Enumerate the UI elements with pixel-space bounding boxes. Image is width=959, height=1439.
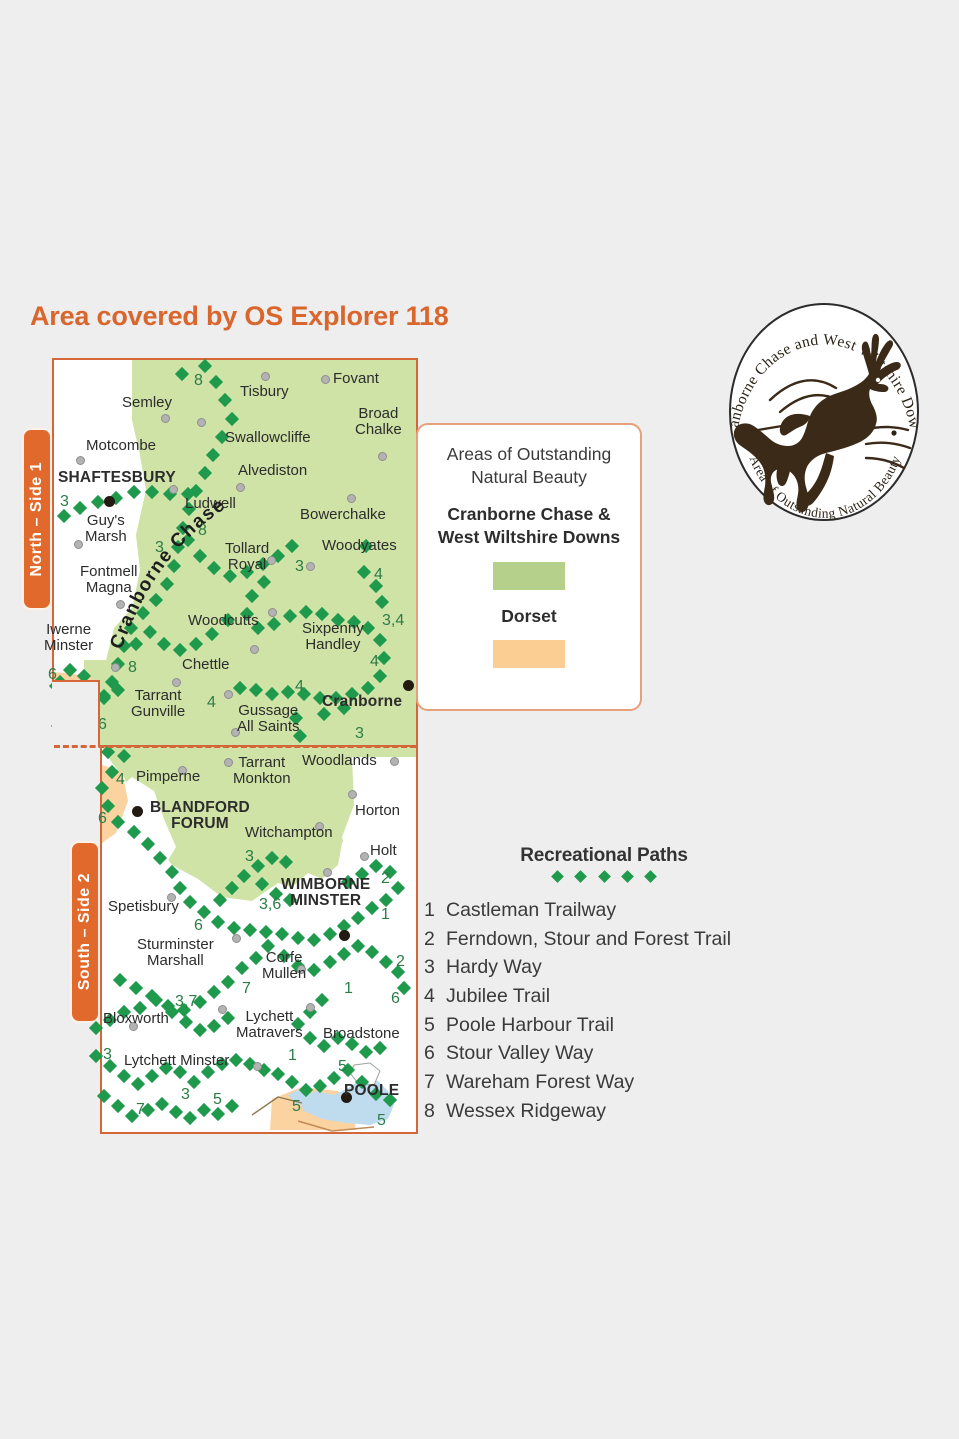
label-woodyates: Woodyates [322,538,397,554]
label-witchampton: Witchampton [245,825,333,841]
label-horton: Horton [355,803,400,819]
label-sturminster-marshall: SturminsterMarshall [137,937,214,969]
label-bowerchalke: Bowerchalke [300,507,386,523]
label-semley: Semley [122,395,172,411]
aonb-swatch-cranborne-chase [493,562,565,590]
label-guys-marsh: Guy'sMarsh [85,513,127,545]
label-fovant: Fovant [333,371,379,387]
path-num: 7 [242,980,251,998]
path-num: 6 [391,990,400,1008]
label-shaftesbury: SHAFTESBURY [58,470,176,486]
label-lytchett-minster: Lytchett Minster [124,1053,229,1069]
label-gussage-all-saints: GussageAll Saints [237,703,300,735]
path-num: 1 [344,980,353,998]
path-num: 8 [198,522,207,540]
label-tisbury: Tisbury [240,384,289,400]
label-blandford-forum: BLANDFORDFORUM [150,800,250,833]
label-lychett-matravers: LychettMatravers [236,1009,303,1041]
path-num: 3,6 [259,896,281,914]
map-notch [52,680,100,747]
path-num: 3,4 [382,612,404,630]
path-num: 1 [381,906,390,924]
label-tarrant-monkton: TarrantMonkton [233,755,291,787]
label-broadstone: Broadstone [323,1026,400,1042]
path-num: 6 [98,810,107,828]
label-sixpenny-handley: SixpennyHandley [302,621,364,653]
path-num: 5 [292,1098,301,1116]
path-num: 8 [128,659,137,677]
aonb-item1-line1: Cranborne Chase & [447,504,610,524]
path-num: 5 [338,1058,347,1076]
path-num: 3 [181,1086,190,1104]
label-poole: POOLE [344,1083,399,1099]
path-num: 4 [207,694,216,712]
path-num: 3 [355,725,364,743]
path-num: 4 [370,653,379,671]
label-holt: Holt [370,843,397,859]
path-num: 4 [374,566,383,584]
map-sheet-divider [54,745,416,748]
path-num: 2 [381,870,390,888]
path-num: 3,7 [175,993,197,1011]
label-woodcutts: Woodcutts [188,613,259,629]
label-bloxworth: Bloxworth [103,1011,169,1027]
label-pimperne: Pimperne [136,769,200,785]
aonb-item-dorset-label: Dorset [428,606,630,627]
path-num: 6 [194,917,203,935]
aonb-legend-box: Areas of Outstanding Natural Beauty Cran… [416,423,642,711]
label-fontmell-magna: FontmellMagna [80,564,138,596]
map-page: Area covered by OS Explorer 118 [0,0,959,1439]
label-spetisbury: Spetisbury [108,899,179,915]
path-num: 4 [116,771,125,789]
path-num: 5 [213,1091,222,1109]
path-num: 1 [288,1047,297,1065]
label-swallowcliffe: Swallowcliffe [225,430,311,446]
path-num: 7 [136,1101,145,1119]
path-num: 3 [60,493,69,511]
path-num: 3 [155,539,164,557]
path-num: 4 [295,678,304,696]
path-num: 3 [295,558,304,576]
label-wimborne-minster: WIMBORNEMINSTER [281,877,370,910]
aonb-heading-line2: Natural Beauty [471,467,587,487]
label-alvediston: Alvediston [238,463,307,479]
label-ludwell: Ludwell [185,496,236,512]
aonb-swatch-dorset [493,640,565,668]
path-num: 5 [377,1112,386,1130]
path-num: 8 [194,372,203,390]
aonb-item-cranborne-chase-label: Cranborne Chase & West Wiltshire Downs [428,503,630,549]
label-iwerne-minster: IwerneMinster [44,622,93,654]
aonb-legend-heading: Areas of Outstanding Natural Beauty [428,443,630,489]
label-woodlands: Woodlands [302,753,377,769]
label-motcombe: Motcombe [86,438,156,454]
aonb-item1-line2: West Wiltshire Downs [438,527,620,547]
label-tarrant-gunville: TarrantGunville [131,688,185,720]
label-cranborne: Cranborne [322,694,402,710]
path-num: 3 [245,848,254,866]
label-chettle: Chettle [182,657,230,673]
label-tollard-royal: TollardRoyal [225,541,269,573]
label-broad-chalke: BroadChalke [355,406,402,438]
label-corfe-mullen: CorfeMullen [262,950,306,982]
path-num: 2 [396,953,405,971]
aonb-heading-line1: Areas of Outstanding [447,444,611,464]
path-num: 3 [103,1046,112,1064]
